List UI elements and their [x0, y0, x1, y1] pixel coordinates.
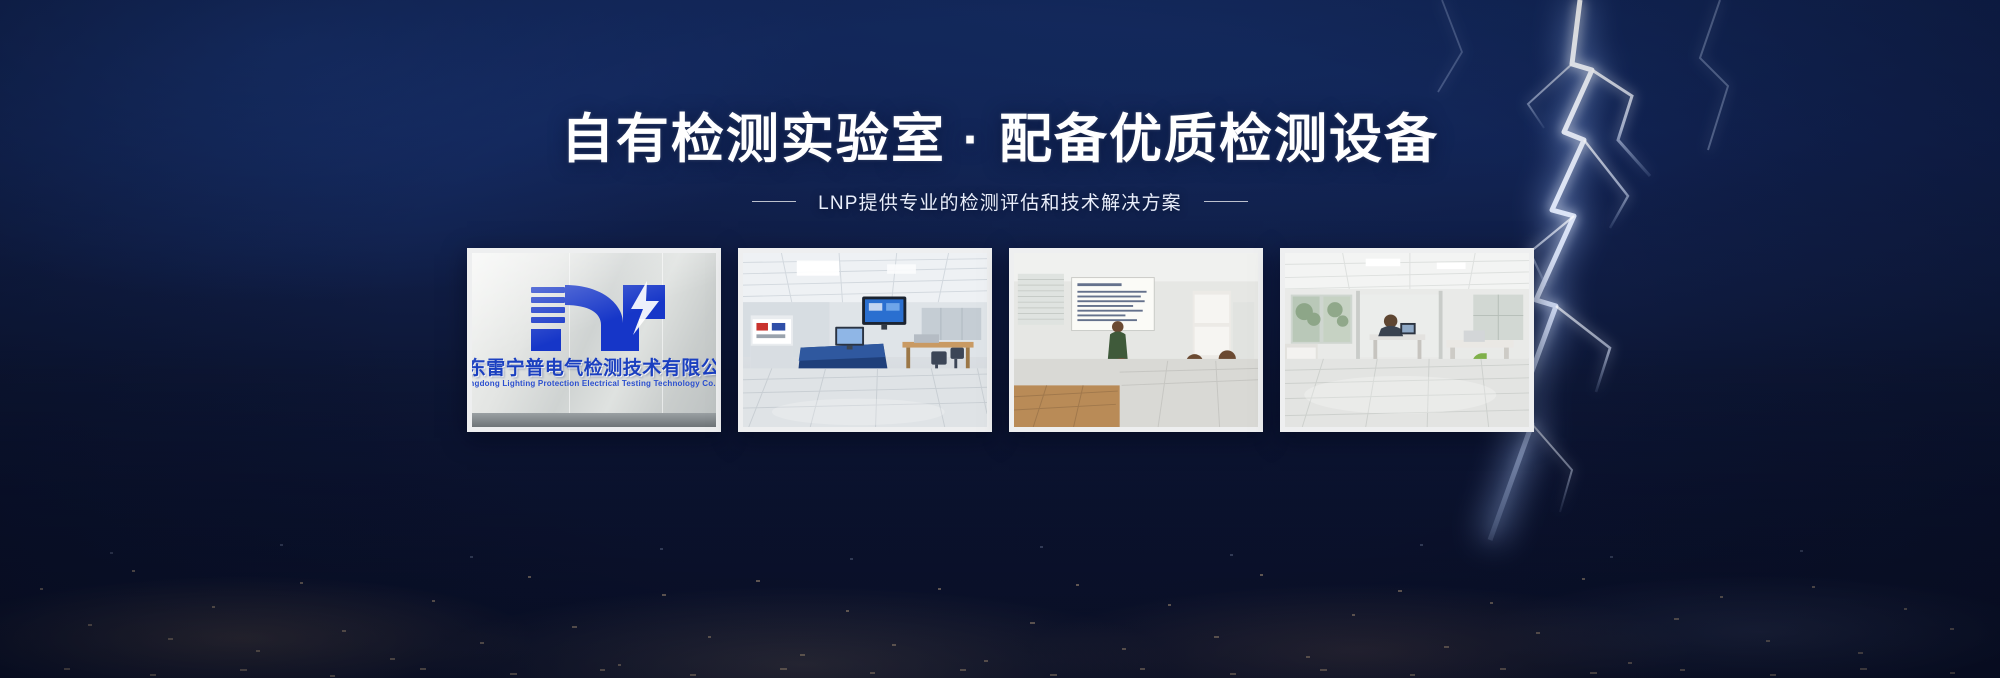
photo-gallery: 广东雷宁普电气检测技术有限公司 Guangdong Lighting Prote…	[0, 248, 2000, 432]
page-title: 自有检测实验室 · 配备优质检测设备	[0, 113, 2000, 166]
gallery-item-office[interactable]	[1280, 248, 1534, 432]
photo-laboratory	[743, 253, 987, 427]
page-subtitle: LNP提供专业的检测评估和技术解决方案	[818, 188, 1182, 215]
gallery-item-meeting-room[interactable]	[1009, 248, 1263, 432]
photo-office	[1285, 253, 1529, 427]
rule-right-icon	[1204, 201, 1248, 202]
rule-left-icon	[752, 201, 796, 202]
hero-text-block: 自有检测实验室 · 配备优质检测设备 LNP提供专业的检测评估和技术解决方案	[0, 0, 2000, 215]
photo-logo-wall: 广东雷宁普电气检测技术有限公司 Guangdong Lighting Prote…	[472, 253, 716, 427]
hero-banner: 自有检测实验室 · 配备优质检测设备 LNP提供专业的检测评估和技术解决方案	[0, 0, 2000, 678]
subtitle-row: LNP提供专业的检测评估和技术解决方案	[0, 188, 2000, 215]
photo-meeting-room	[1014, 253, 1258, 427]
gallery-item-laboratory[interactable]	[738, 248, 992, 432]
gallery-item-logo-wall[interactable]: 广东雷宁普电气检测技术有限公司 Guangdong Lighting Prote…	[467, 248, 721, 432]
